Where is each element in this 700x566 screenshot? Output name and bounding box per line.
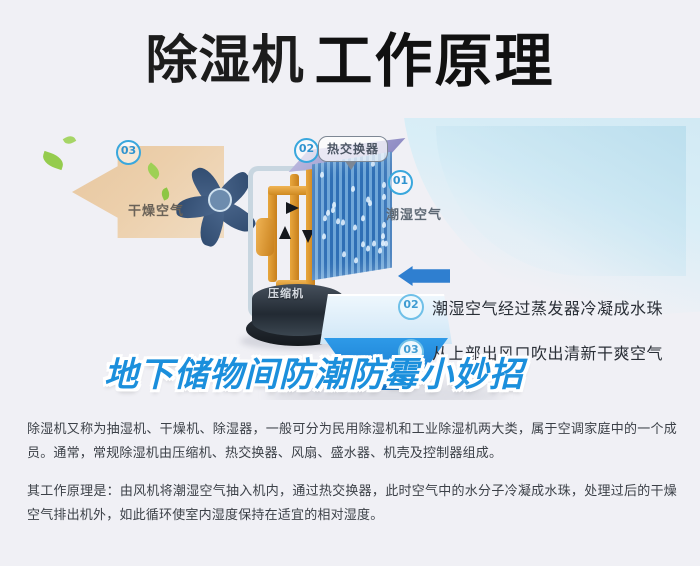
page-title: 除湿机 工作原理: [0, 22, 700, 100]
condensation-droplet-icon: [372, 241, 376, 248]
overlay-headline: 地下储物间防潮防霉小妙招: [104, 358, 624, 393]
condensation-droplet-icon: [366, 245, 370, 252]
condensation-droplet-icon: [341, 219, 345, 226]
page-title-part1: 除湿机: [145, 35, 304, 87]
condensation-droplet-icon: [320, 171, 324, 178]
condensation-droplet-icon: [382, 194, 386, 201]
evaporator-coil: [312, 152, 392, 281]
paragraph-1: 除湿机又称为抽湿机、干燥机、除湿器，一般可分为民用除湿机和工业除湿机两大类，属于…: [27, 418, 677, 466]
condensation-droplet-icon: [384, 241, 388, 248]
step-text: 潮湿空气经过蒸发器冷凝成水珠: [432, 295, 663, 319]
leaf-icon: [41, 151, 66, 170]
flow-arrow-right-icon: [286, 202, 299, 214]
infographic-page: 除湿机 工作原理: [0, 0, 700, 566]
condensation-droplet-icon: [368, 199, 372, 206]
condensation-droplet-icon: [342, 250, 346, 257]
condensation-droplet-icon: [336, 218, 340, 225]
page-title-part2: 工作原理: [315, 32, 555, 90]
flow-arrow-up-icon: [279, 226, 291, 239]
heat-exchanger-callout: 热交换器: [318, 136, 388, 162]
diagram-badge-02: 02: [294, 138, 319, 163]
humid-air-label: 潮湿空气: [386, 204, 442, 223]
condensation-droplet-icon: [353, 225, 357, 232]
diagram-badge-03: 03: [116, 140, 141, 165]
list-item: 02 潮湿空气经过蒸发器冷凝成水珠: [398, 294, 690, 320]
condensation-droplet-icon: [323, 215, 327, 222]
body-copy: 除湿机又称为抽湿机、干燥机、除湿器，一般可分为民用除湿机和工业除湿机两大类，属于…: [27, 418, 677, 528]
dry-air-label: 干燥空气: [128, 200, 184, 219]
dehumidifier-diagram: 压缩机 水箱 03 02 01 干燥空气 潮湿空气 热交换器 02 潮湿空气经过…: [0, 118, 700, 400]
condensation-droplet-icon: [354, 257, 358, 264]
step-badge: 02: [398, 294, 424, 320]
condensation-droplet-icon: [332, 202, 336, 209]
diagram-badge-01: 01: [388, 170, 413, 195]
receiver-tank: [256, 218, 274, 256]
condensation-droplet-icon: [378, 247, 382, 254]
condensation-droplet-icon: [322, 233, 326, 240]
compressor-label: 压缩机: [268, 285, 304, 301]
condensation-droplet-icon: [351, 185, 355, 192]
condensation-droplet-icon: [361, 241, 365, 248]
leaf-icon: [63, 134, 77, 146]
condensation-droplet-icon: [361, 215, 365, 222]
condensation-droplet-icon: [382, 182, 386, 189]
paragraph-2: 其工作原理是：由风机将潮湿空气抽入机内，通过热交换器，此时空气中的水分子冷凝成水…: [27, 480, 677, 528]
condensation-droplet-icon: [381, 233, 385, 240]
